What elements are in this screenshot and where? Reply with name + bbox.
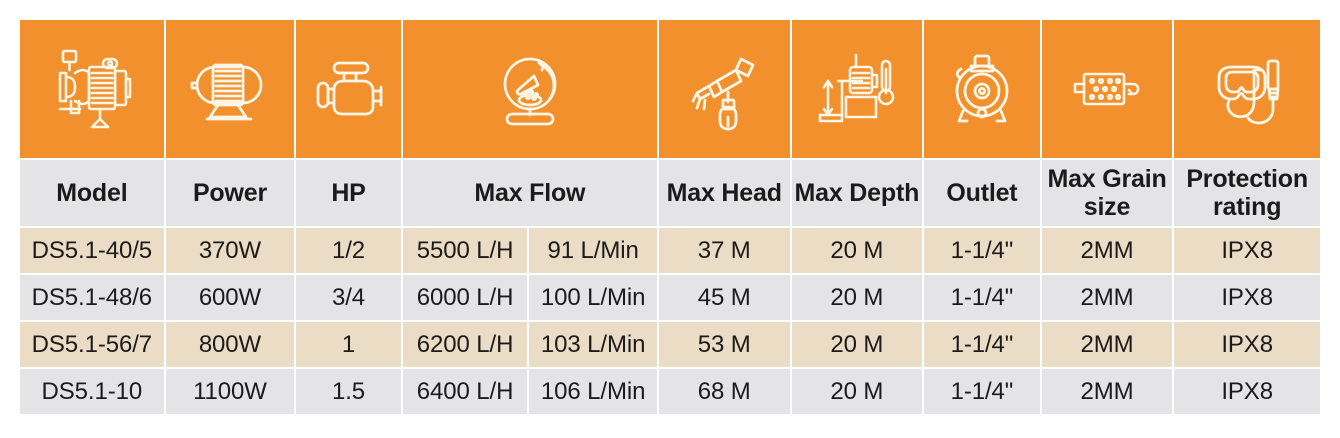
icon-cell-model [20, 20, 164, 158]
cell-model: DS5.1-56/7 [20, 322, 164, 367]
icon-cell-power [166, 20, 295, 158]
cell-max-flow-lh: 6400 L/H [403, 369, 528, 414]
cell-outlet: 1-1/4" [924, 228, 1040, 273]
icon-cell-max-head [659, 20, 790, 158]
cell-power: 1100W [166, 369, 295, 414]
cell-power: 370W [166, 228, 295, 273]
header-max-depth: Max Depth [792, 160, 923, 226]
icon-cell-protection-rating [1174, 20, 1320, 158]
perforated-strainer-icon [1062, 43, 1152, 135]
cell-max-flow-lmin: 106 L/Min [529, 369, 657, 414]
cell-hp: 3/4 [296, 275, 400, 320]
cell-max-grain-size: 2MM [1042, 228, 1173, 273]
table-row: DS5.1-40/5 370W 1/2 5500 L/H 91 L/Min 37… [20, 228, 1320, 273]
engine-block-icon [304, 43, 394, 135]
cell-outlet: 1-1/4" [924, 322, 1040, 367]
cell-outlet: 1-1/4" [924, 369, 1040, 414]
cell-max-flow-lmin: 103 L/Min [529, 322, 657, 367]
header-power: Power [166, 160, 295, 226]
depth-thermometer-pump-icon [812, 43, 902, 135]
cell-hp: 1.5 [296, 369, 400, 414]
cell-max-grain-size: 2MM [1042, 322, 1173, 367]
table-row: DS5.1-10 1100W 1.5 6400 L/H 106 L/Min 68… [20, 369, 1320, 414]
electric-motor-icon [185, 43, 275, 135]
cell-max-grain-size: 2MM [1042, 369, 1173, 414]
cell-max-depth: 20 M [792, 275, 923, 320]
diving-mask-snorkel-icon [1202, 43, 1292, 135]
column-header-row: Model Power HP Max Flow Max Head Max Dep… [20, 160, 1320, 226]
pump-outlet-icon [937, 43, 1027, 135]
cell-max-flow-lh: 6000 L/H [403, 275, 528, 320]
cell-protection-rating: IPX8 [1174, 228, 1320, 273]
header-hp: HP [296, 160, 400, 226]
header-protection-rating: Protection rating [1174, 160, 1320, 226]
cell-power: 800W [166, 322, 295, 367]
cell-max-depth: 20 M [792, 322, 923, 367]
cell-model: DS5.1-48/6 [20, 275, 164, 320]
icon-cell-max-depth [792, 20, 923, 158]
cell-outlet: 1-1/4" [924, 275, 1040, 320]
table-row: DS5.1-56/7 800W 1 6200 L/H 103 L/Min 53 … [20, 322, 1320, 367]
cell-max-flow-lh: 6200 L/H [403, 322, 528, 367]
cell-max-head: 53 M [659, 322, 790, 367]
cell-model: DS5.1-40/5 [20, 228, 164, 273]
header-outlet: Outlet [924, 160, 1040, 226]
icon-cell-hp [296, 20, 400, 158]
cell-protection-rating: IPX8 [1174, 275, 1320, 320]
icon-cell-outlet [924, 20, 1040, 158]
cell-max-head: 68 M [659, 369, 790, 414]
flow-gauge-icon [485, 43, 575, 135]
cell-power: 600W [166, 275, 295, 320]
centrifugal-pump-icon [47, 43, 137, 135]
cell-hp: 1 [296, 322, 400, 367]
icon-cell-max-flow [403, 20, 657, 158]
cell-hp: 1/2 [296, 228, 400, 273]
cell-model: DS5.1-10 [20, 369, 164, 414]
cell-max-grain-size: 2MM [1042, 275, 1173, 320]
cell-max-head: 37 M [659, 228, 790, 273]
cell-max-head: 45 M [659, 275, 790, 320]
cell-max-flow-lh: 5500 L/H [403, 228, 528, 273]
header-model: Model [20, 160, 164, 226]
icon-header-row [20, 20, 1320, 158]
cell-max-depth: 20 M [792, 369, 923, 414]
water-jet-nozzle-icon [679, 43, 769, 135]
header-max-grain-size: Max Grain size [1042, 160, 1173, 226]
table-row: DS5.1-48/6 600W 3/4 6000 L/H 100 L/Min 4… [20, 275, 1320, 320]
header-max-head: Max Head [659, 160, 790, 226]
cell-max-flow-lmin: 100 L/Min [529, 275, 657, 320]
cell-protection-rating: IPX8 [1174, 369, 1320, 414]
pump-specification-table: Model Power HP Max Flow Max Head Max Dep… [18, 18, 1322, 416]
spec-table-container: Model Power HP Max Flow Max Head Max Dep… [18, 18, 1322, 420]
cell-max-depth: 20 M [792, 228, 923, 273]
cell-protection-rating: IPX8 [1174, 322, 1320, 367]
cell-max-flow-lmin: 91 L/Min [529, 228, 657, 273]
header-max-flow: Max Flow [403, 160, 657, 226]
icon-cell-max-grain-size [1042, 20, 1173, 158]
